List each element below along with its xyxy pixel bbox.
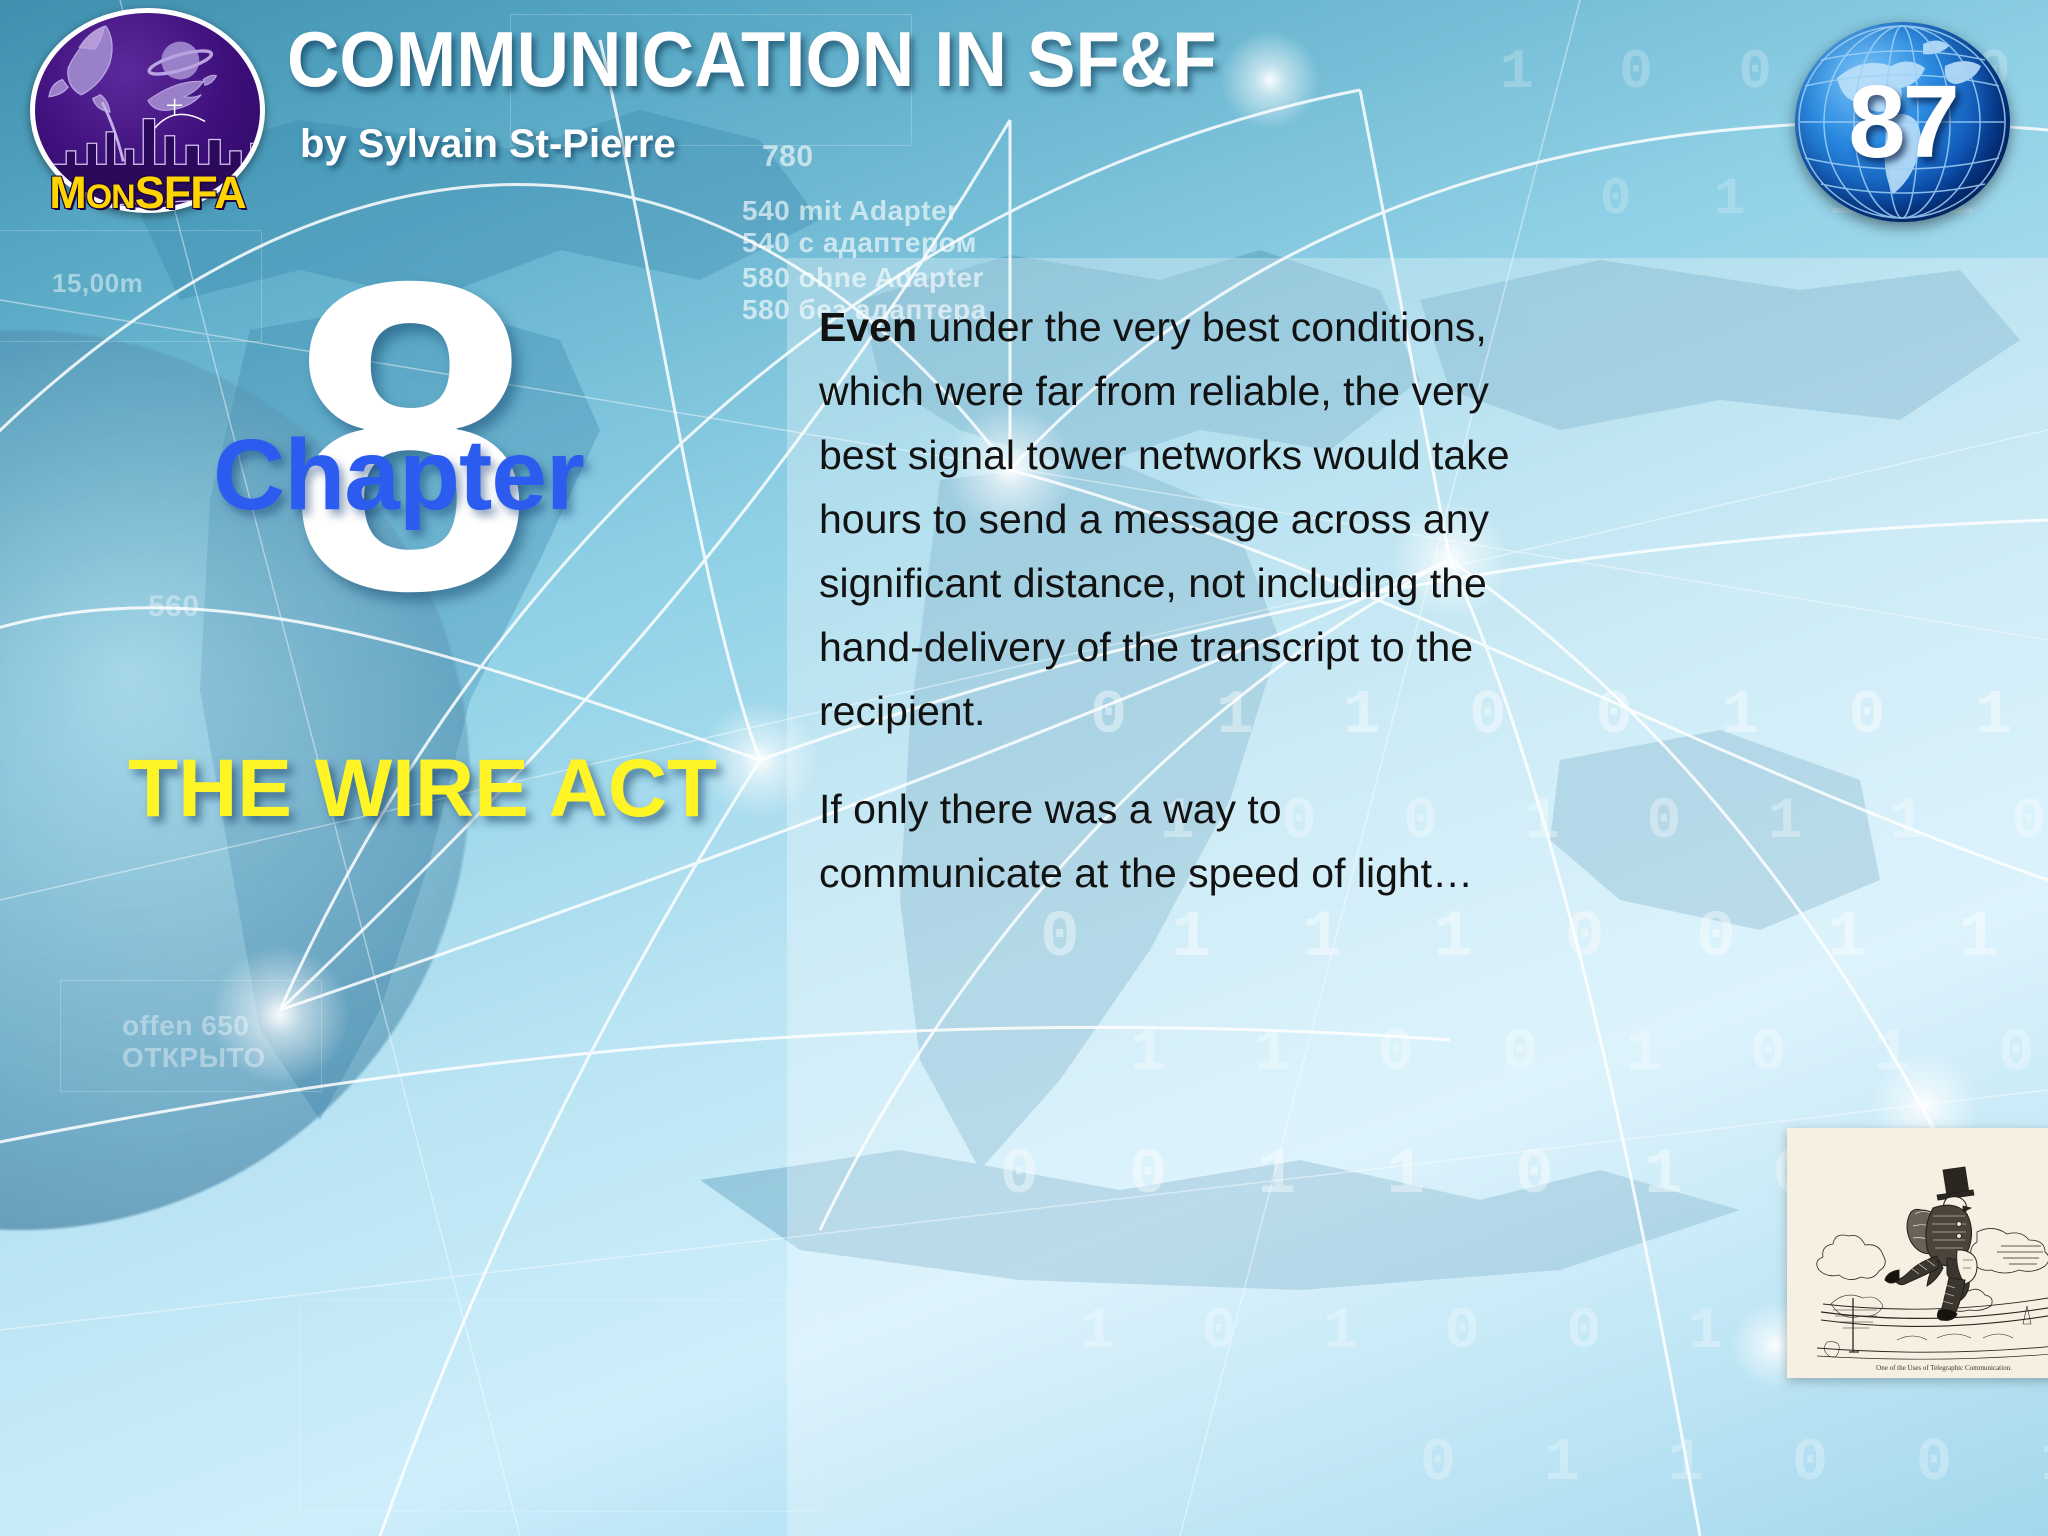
bg-label-540-ru: 540 с адаптером — [742, 227, 977, 259]
paragraph-1-rest: under the very best conditions, which we… — [819, 304, 1510, 734]
bg-label-540-mit-adapter: 540 mit Adapter — [742, 195, 959, 227]
chapter-title: THE WIRE ACT — [128, 742, 717, 836]
page-number-badge: 87 — [1795, 22, 2010, 222]
deck-author: by Sylvain St-Pierre — [300, 122, 676, 167]
telegraph-engraving-image: One of the Uses of Telegraphic Communica… — [1787, 1128, 2048, 1378]
paragraph-1: Even under the very best conditions, whi… — [819, 296, 1523, 744]
bg-label-560: 560 — [148, 590, 200, 624]
logo-m: M — [49, 167, 86, 218]
body-text: Even under the very best conditions, whi… — [819, 296, 1523, 940]
chapter-word: Chapter — [213, 418, 584, 533]
logo-sffa: SFFA — [135, 167, 246, 218]
body-text-panel: Even under the very best conditions, whi… — [787, 258, 2048, 1536]
logo-wordmark: MONSFFA — [30, 167, 265, 219]
bg-label-780: 780 — [762, 140, 814, 174]
lead-word: Even — [819, 304, 917, 350]
paragraph-2: If only there was a way to communicate a… — [819, 778, 1523, 906]
deck-title: COMMUNICATION IN SF&F — [287, 14, 1216, 105]
monsffa-logo[interactable]: MONSFFA — [30, 8, 265, 213]
engraving-caption-svg: One of the Uses of Telegraphic Communica… — [1876, 1364, 2012, 1372]
bg-label-otkrito: ОТКРЫТО — [122, 1042, 266, 1074]
slide-canvas: 0 1 1 0 0 1 0 1 0 0 1 1 0 1 0 0 1 1 0 1 … — [0, 0, 2048, 1536]
bg-label-offen: offen 650 — [122, 1010, 249, 1042]
page-number: 87 — [1795, 22, 2010, 222]
logo-on: ON — [86, 178, 135, 216]
bg-label-1500m: 15,00m — [52, 268, 143, 299]
